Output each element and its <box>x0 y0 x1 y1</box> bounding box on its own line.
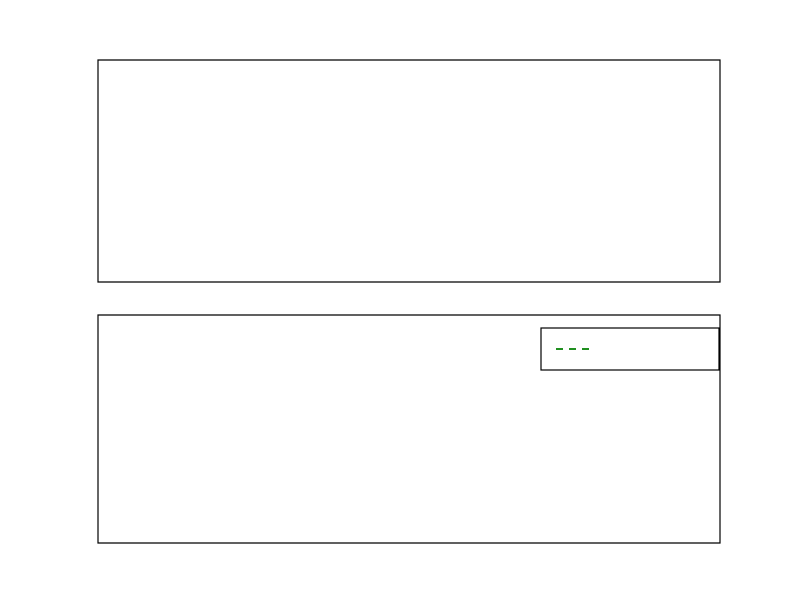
legend-box <box>541 328 719 370</box>
bottom-axes <box>98 315 720 543</box>
top-axes <box>98 60 720 282</box>
top-plot-background <box>98 60 720 282</box>
matplotlib-figure <box>0 0 800 600</box>
legend[interactable] <box>541 328 719 370</box>
figure-canvas <box>0 0 800 600</box>
